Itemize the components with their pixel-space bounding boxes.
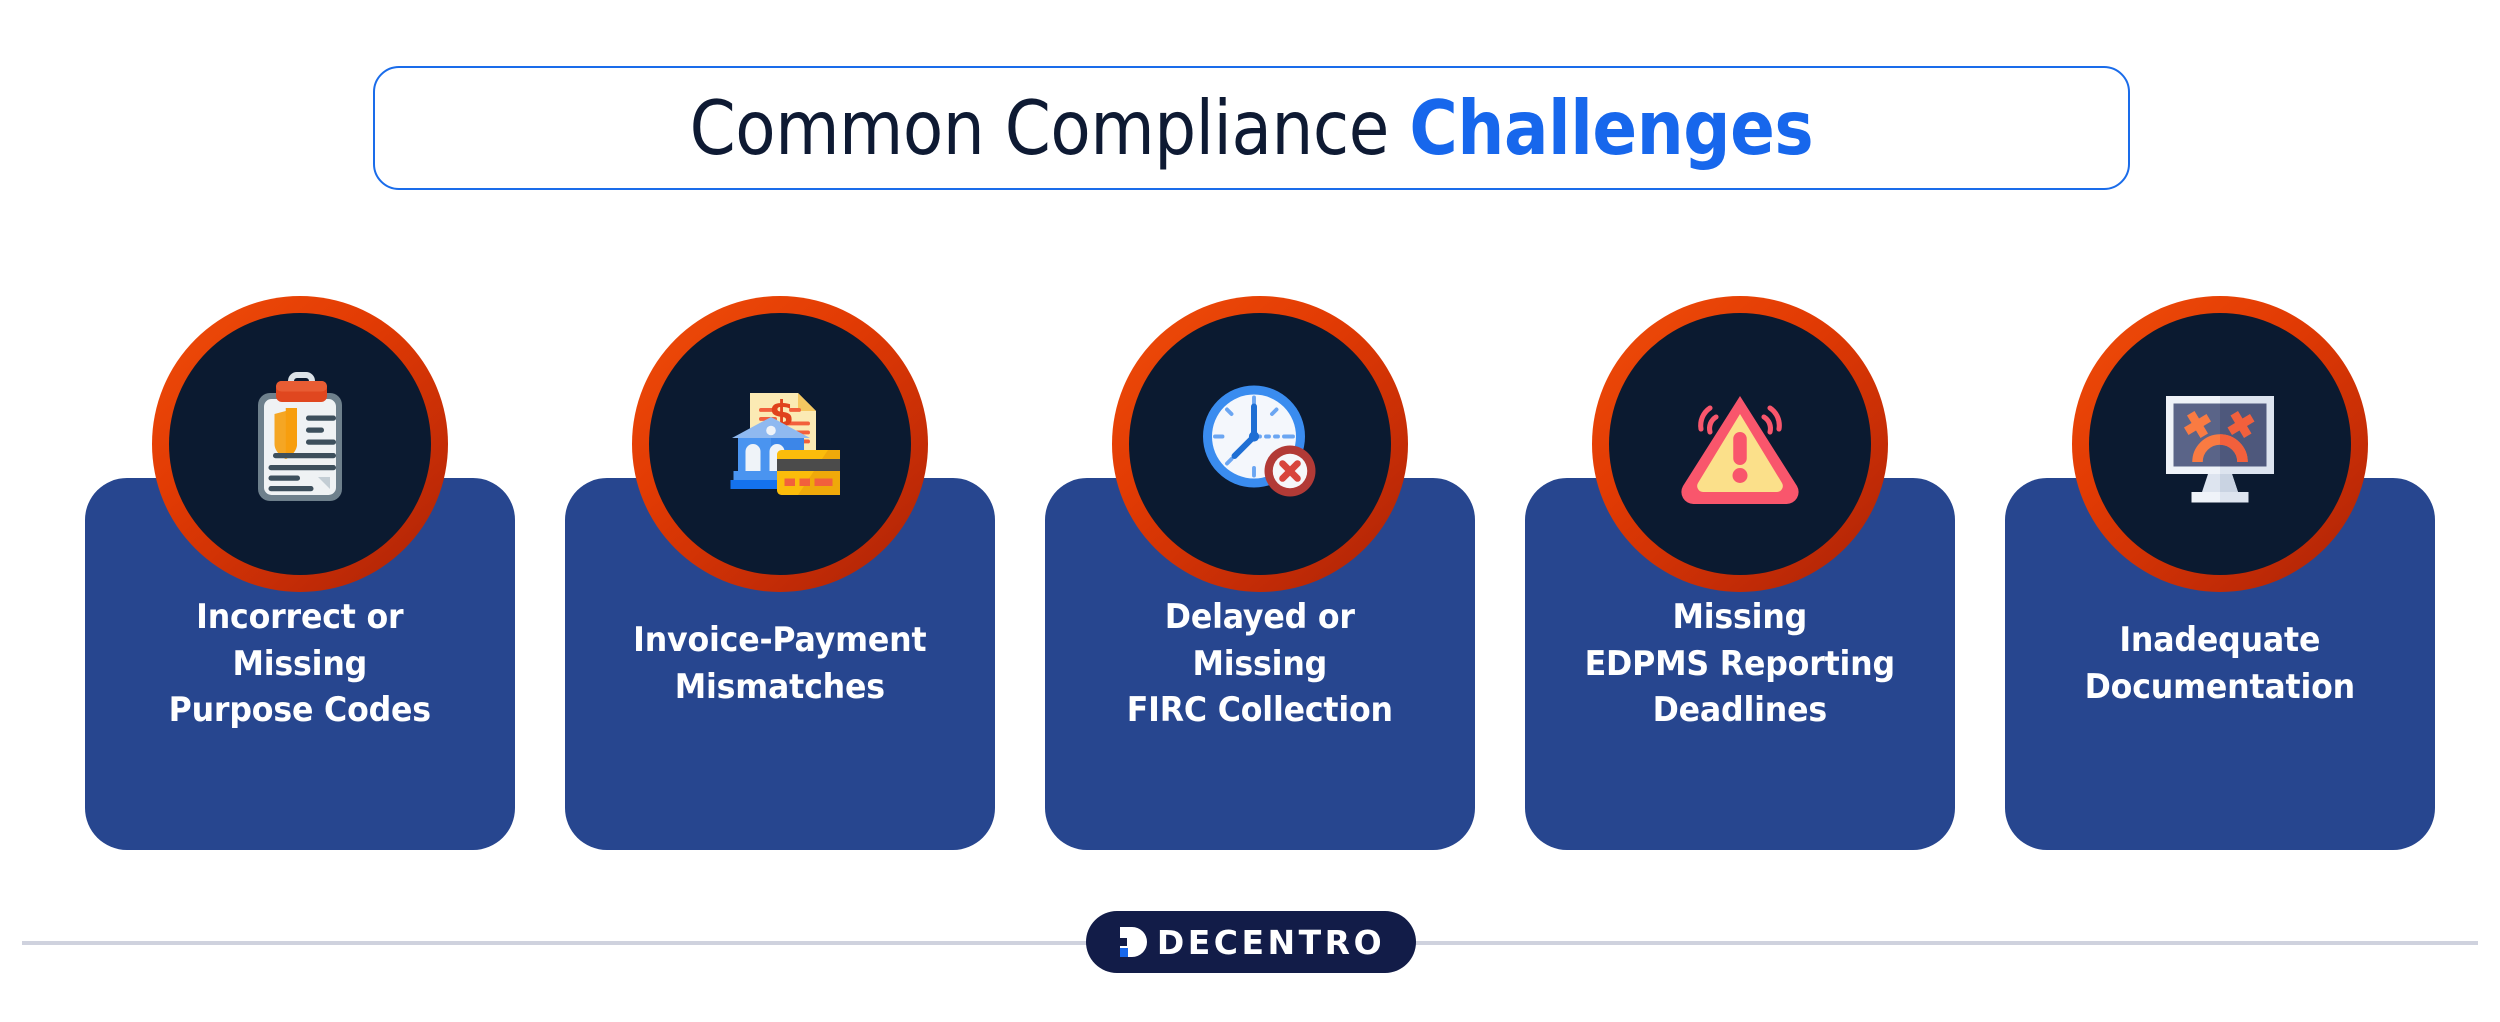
- sad-monitor-icon: [2145, 369, 2295, 519]
- card-label: Incorrect or Missing Purpose Codes: [116, 594, 484, 735]
- card-medallion: [1592, 296, 1888, 592]
- challenge-card-3[interactable]: Delayed or Missing FIRC Collection: [1045, 478, 1475, 850]
- card-label-line: Missing: [1076, 641, 1444, 688]
- card-medallion: $: [632, 296, 928, 592]
- medallion-inner: [1609, 313, 1871, 575]
- challenge-card-row: Incorrect or Missing Purpose Codes: [0, 0, 2500, 1022]
- medallion-inner: [2089, 313, 2351, 575]
- card-label: Delayed or Missing FIRC Collection: [1076, 594, 1444, 735]
- card-label: Inadequate Documentation: [2036, 617, 2404, 711]
- medallion-inner: $: [649, 313, 911, 575]
- card-label-line: Missing: [116, 641, 484, 688]
- decentro-d-mark: [1117, 925, 1151, 959]
- card-label-line: Inadequate: [2036, 617, 2404, 664]
- card-label-line: Missing: [1556, 594, 1924, 641]
- card-medallion: [1112, 296, 1408, 592]
- medallion-inner: [1129, 313, 1391, 575]
- card-medallion: [152, 296, 448, 592]
- challenge-card-2[interactable]: Invoice-Payment Mismatches: [565, 478, 995, 850]
- card-label-line: Invoice-Payment: [596, 617, 964, 664]
- card-label: Missing EDPMS Reporting Deadlines: [1556, 594, 1924, 735]
- card-label-line: Mismatches: [596, 664, 964, 711]
- invoice-bank-card-icon: $: [705, 369, 855, 519]
- decentro-wordmark: DECENTRO: [1157, 923, 1385, 962]
- clock-error-icon: [1185, 369, 1335, 519]
- challenge-card-1[interactable]: Incorrect or Missing Purpose Codes: [85, 478, 515, 850]
- infographic-canvas: Common Compliance Challenges Incorrect o…: [0, 0, 2500, 1022]
- challenge-card-5[interactable]: Inadequate Documentation: [2005, 478, 2435, 850]
- card-label-line: Incorrect or: [116, 594, 484, 641]
- card-medallion: [2072, 296, 2368, 592]
- decentro-logo[interactable]: DECENTRO: [1086, 911, 1416, 973]
- warning-alert-icon: [1665, 369, 1815, 519]
- card-label-line: Documentation: [2036, 664, 2404, 711]
- clipboard-shield-icon: [225, 369, 375, 519]
- card-label-line: Purpose Codes: [116, 687, 484, 734]
- card-label-line: EDPMS Reporting: [1556, 641, 1924, 688]
- medallion-inner: [169, 313, 431, 575]
- card-label-line: Deadlines: [1556, 687, 1924, 734]
- card-label-line: Delayed or: [1076, 594, 1444, 641]
- card-label-line: FIRC Collection: [1076, 687, 1444, 734]
- challenge-card-4[interactable]: Missing EDPMS Reporting Deadlines: [1525, 478, 1955, 850]
- card-label: Invoice-Payment Mismatches: [596, 617, 964, 711]
